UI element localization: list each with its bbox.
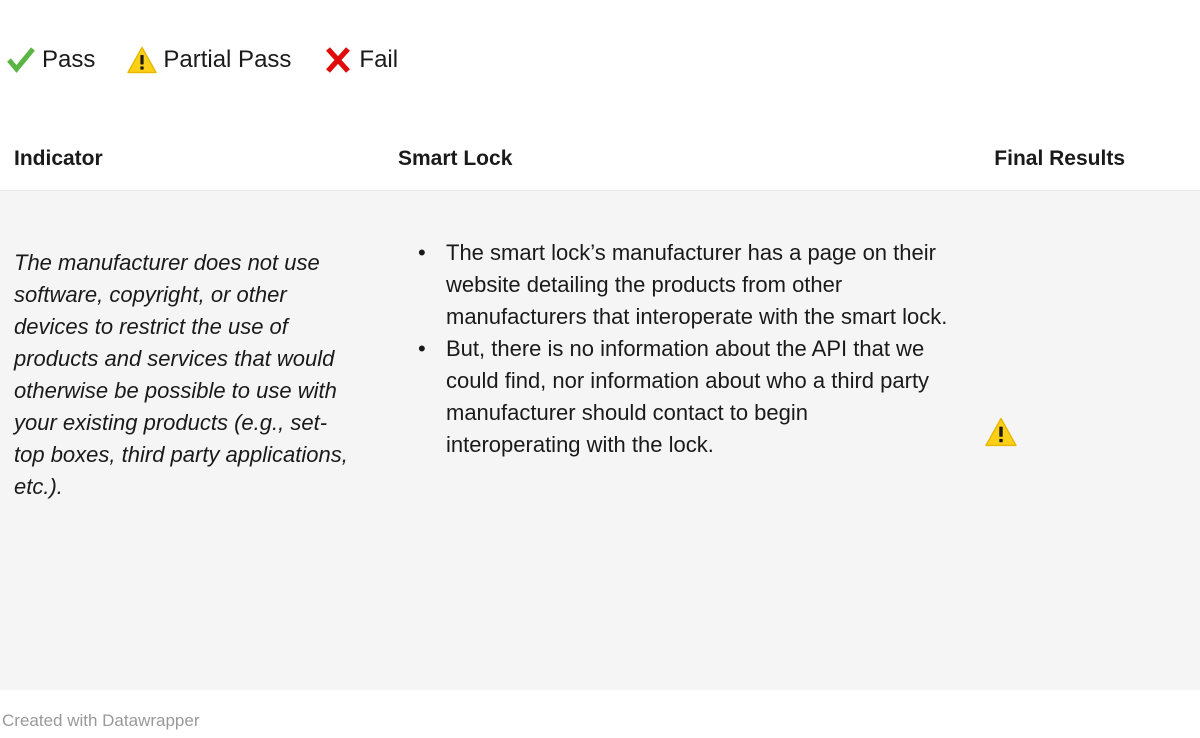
cell-final-result bbox=[958, 191, 1200, 690]
warning-icon bbox=[984, 415, 1018, 449]
legend-label-fail: Fail bbox=[359, 48, 398, 72]
cell-smart-lock: The smart lock’s manufacturer has a page… bbox=[398, 191, 958, 690]
column-header-indicator[interactable]: Indicator bbox=[0, 147, 398, 190]
check-icon bbox=[4, 43, 38, 77]
list-item: The smart lock’s manufacturer has a page… bbox=[446, 237, 948, 333]
table-row: The manufacturer does not use software, … bbox=[0, 191, 1200, 690]
cell-indicator: The manufacturer does not use software, … bbox=[0, 191, 398, 690]
datawrapper-credit[interactable]: Created with Datawrapper bbox=[2, 711, 199, 731]
smart-lock-bullet-list: The smart lock’s manufacturer has a page… bbox=[398, 237, 948, 461]
column-header-final-results[interactable]: Final Results bbox=[958, 147, 1200, 190]
warning-icon bbox=[125, 43, 159, 77]
table-header-row: Indicator Smart Lock Final Results bbox=[0, 126, 1200, 191]
legend-item-pass: Pass bbox=[4, 43, 95, 77]
legend-label-partial-pass: Partial Pass bbox=[163, 48, 291, 72]
legend-item-partial-pass: Partial Pass bbox=[125, 43, 291, 77]
legend: Pass Partial Pass Fail bbox=[0, 36, 428, 84]
cross-icon bbox=[321, 43, 355, 77]
results-table: Indicator Smart Lock Final Results The m… bbox=[0, 126, 1200, 690]
legend-item-fail: Fail bbox=[321, 43, 398, 77]
indicator-text: The manufacturer does not use software, … bbox=[14, 247, 348, 503]
column-header-smart-lock[interactable]: Smart Lock bbox=[398, 147, 958, 190]
list-item: But, there is no information about the A… bbox=[446, 333, 948, 461]
legend-label-pass: Pass bbox=[42, 48, 95, 72]
